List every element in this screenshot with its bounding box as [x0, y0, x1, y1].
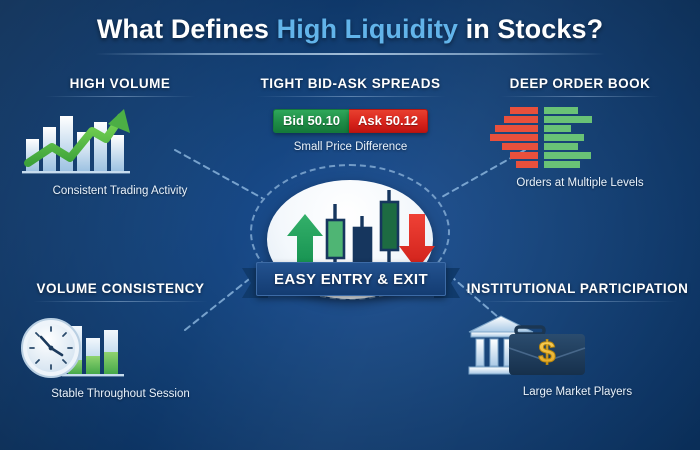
heading-divider	[45, 96, 195, 97]
section-volume-consistency: VOLUME CONSISTENCY	[18, 281, 223, 400]
section-caption-volume-consistency: Stable Throughout Session	[18, 388, 223, 400]
heading-divider	[256, 96, 446, 97]
clock-bar-chart-icon	[18, 310, 223, 382]
section-deep-order-book: DEEP ORDER BOOK	[480, 76, 680, 189]
title-part-2: in Stocks?	[458, 14, 603, 44]
page-title: What Defines High Liquidity in Stocks?	[0, 14, 700, 45]
section-bid-ask-spread: TIGHT BID-ASK SPREADS Bid 50.10 Ask 50.1…	[243, 76, 458, 153]
heading-divider	[478, 301, 678, 302]
center-hub: EASY ENTRY & EXIT	[248, 166, 452, 300]
section-caption-high-volume: Consistent Trading Activity	[20, 185, 220, 197]
section-caption-order-book: Orders at Multiple Levels	[480, 177, 680, 189]
ask-badge[interactable]: Ask 50.12	[349, 109, 428, 133]
ribbon-band: EASY ENTRY & EXIT	[256, 262, 446, 296]
easy-entry-exit-banner: EASY ENTRY & EXIT	[242, 262, 460, 298]
section-heading-bid-ask: TIGHT BID-ASK SPREADS	[243, 76, 458, 91]
section-heading-volume-consistency: VOLUME CONSISTENCY	[18, 281, 223, 296]
section-institutional-participation: INSTITUTIONAL PARTICIPATION	[465, 281, 690, 398]
bank-briefcase-dollar-icon: $	[465, 310, 690, 380]
title-divider	[95, 53, 605, 55]
section-caption-bid-ask: Small Price Difference	[243, 141, 458, 153]
title-part-1: What Defines	[97, 14, 277, 44]
section-heading-order-book: DEEP ORDER BOOK	[480, 76, 680, 91]
bid-badge[interactable]: Bid 50.10	[273, 109, 349, 133]
heading-divider	[500, 96, 660, 97]
order-book-depth-icon	[480, 105, 680, 171]
section-heading-institutional: INSTITUTIONAL PARTICIPATION	[465, 281, 690, 296]
bar-chart-up-arrow-icon	[20, 105, 220, 179]
heading-divider	[33, 301, 208, 302]
section-high-volume: HIGH VOLUME	[20, 76, 220, 197]
svg-text:$: $	[538, 334, 555, 369]
banner-label: EASY ENTRY & EXIT	[274, 271, 428, 288]
section-heading-high-volume: HIGH VOLUME	[20, 76, 220, 91]
section-caption-institutional: Large Market Players	[465, 386, 690, 398]
title-highlight: High Liquidity	[277, 14, 458, 44]
bid-ask-badges: Bid 50.10 Ask 50.12	[243, 109, 458, 133]
infographic-canvas: What Defines High Liquidity in Stocks? H…	[0, 0, 700, 450]
